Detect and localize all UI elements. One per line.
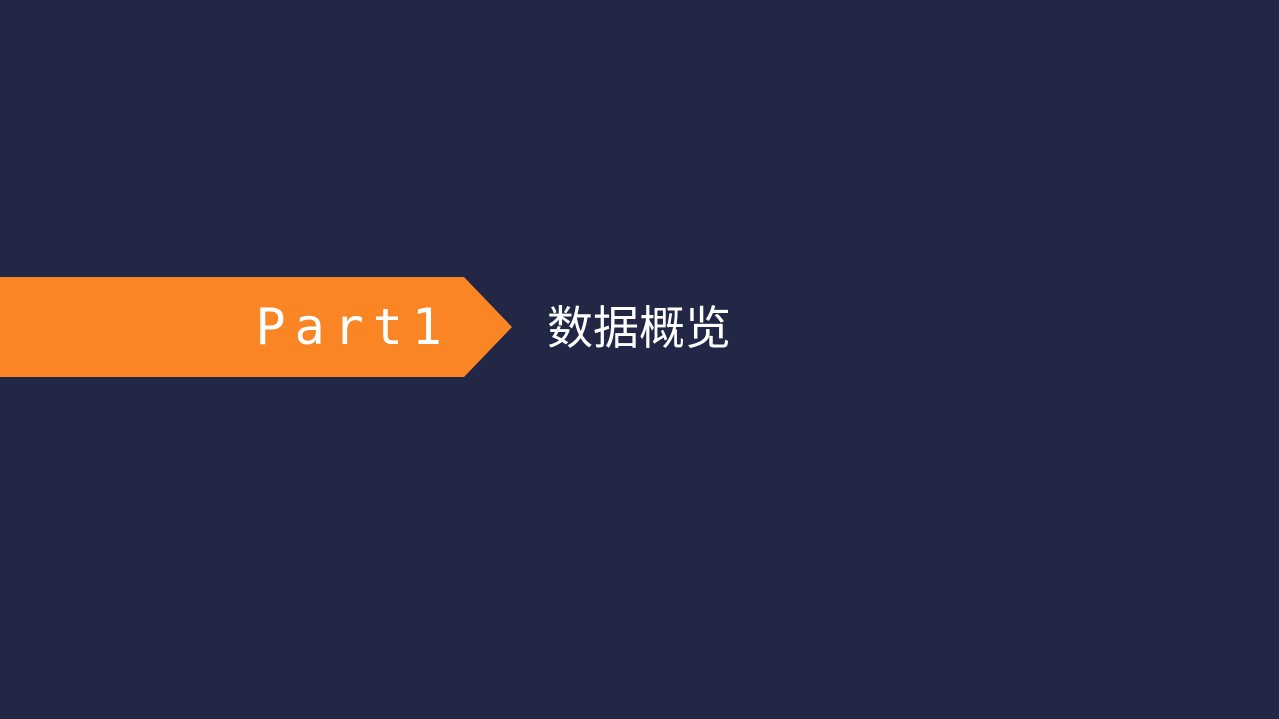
section-title-text: 数据概览 bbox=[547, 303, 731, 354]
section-title: 数据概览 bbox=[547, 300, 731, 356]
slide-canvas: Part1 数据概览 bbox=[0, 0, 1279, 719]
chevron-shape-icon bbox=[0, 277, 512, 377]
part-banner bbox=[0, 277, 512, 377]
